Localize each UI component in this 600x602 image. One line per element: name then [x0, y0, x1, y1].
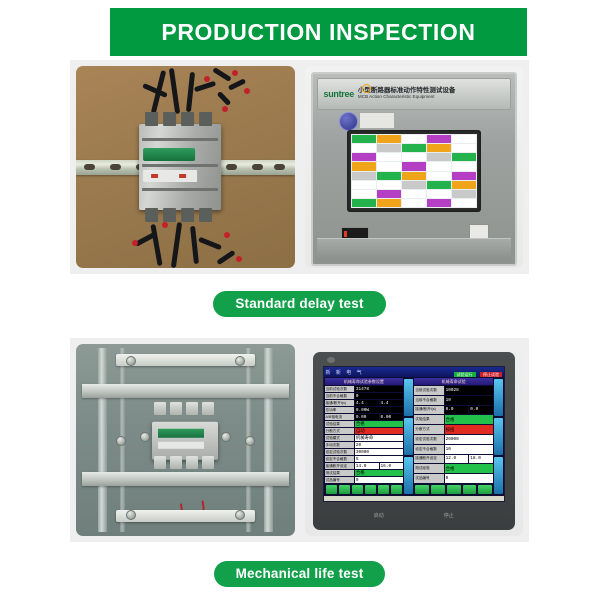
hmi-right-side-buttons[interactable]: [494, 378, 503, 495]
upper-beam: [82, 384, 289, 398]
hmi-data-row: 接通断开设定12.018.0: [414, 455, 493, 464]
label-band-standard-delay-test: Standard delay test: [70, 276, 529, 332]
monitor-bezel: 新 新 电 气 试验运行 停止试验 机械寿命试验参数设置 当前试验次数31478…: [313, 352, 516, 530]
hmi-field-value[interactable]: 0.00: [380, 414, 404, 420]
hmi-field-label: 试验结果: [414, 415, 443, 424]
label-band-mechanical-life-test: Mechanical life test: [70, 546, 529, 602]
hmi-field-label: 试验结果: [325, 421, 354, 427]
hmi-field-label: A/B相电流: [325, 414, 354, 420]
probe-tip: [244, 88, 250, 94]
hmi-field-label: 接通/断开t(s): [325, 400, 354, 406]
circuit-breaker-unit: [139, 124, 221, 210]
hmi-tile: [352, 199, 376, 207]
bezel-label-start: 启动: [374, 512, 384, 519]
hmi-field-label: 设定不合格数: [414, 445, 443, 454]
hmi-field-label: 当前试验次数: [325, 386, 354, 392]
hmi-field-label: 测试结果: [325, 470, 354, 476]
hmi-tile: [402, 153, 426, 161]
hmi-field-label: 试验模式: [325, 435, 354, 441]
hmi-field-value[interactable]: 12.0: [445, 455, 469, 464]
hmi-titlebar: 新 新 电 气 试验运行 停止试验: [324, 367, 505, 377]
hmi-data-row: 接通断开设定14.016.0: [325, 463, 404, 469]
hmi-data-row: 测试经验合格: [414, 464, 493, 473]
bezel-label-stop: 停止: [444, 512, 454, 519]
photo-panel-mechanical-life-test: 新 新 电 气 试验运行 停止试验 机械寿命试验参数设置 当前试验次数31478…: [70, 338, 529, 542]
hmi-field-value[interactable]: 0: [355, 477, 403, 483]
hmi-data-row: 设定不合格数10: [414, 445, 493, 454]
hmi-field-value[interactable]: 合格: [355, 470, 403, 476]
hmi-tile: [352, 181, 376, 189]
probe-tip: [236, 256, 242, 262]
hmi-left-buttons[interactable]: [325, 484, 404, 495]
hmi-right-panel: 机械寿命试验 当前试验次数10028当前不合格数10接通/断开t(s)0.00.…: [414, 378, 493, 495]
hmi-field-value[interactable]: 20000: [445, 435, 493, 444]
hmi-field-value[interactable]: 0.00: [355, 414, 379, 420]
hmi-data-row: 分断方式自动: [325, 428, 404, 434]
hmi-field-value[interactable]: 5: [355, 456, 403, 462]
hmi-field-value[interactable]: 10: [445, 445, 493, 454]
hmi-right-panel-header: 机械寿命试验: [414, 378, 493, 385]
hmi-field-label: 分断方式: [325, 428, 354, 434]
hmi-tile: [377, 190, 401, 198]
suntree-logo: suntree: [324, 89, 354, 99]
photo-panel-standard-delay-test: suntree 小型断路器标准动作特性测试设备 MCB Action Chara…: [70, 60, 529, 274]
probe-lead: [171, 222, 182, 268]
hmi-title: 新 新 电 气: [326, 369, 364, 376]
hmi-field-label: 手动次数: [325, 442, 354, 448]
probe-lead: [194, 81, 216, 93]
hmi-data-row: 当前试验次数10028: [414, 386, 493, 395]
hmi-tile: [452, 135, 476, 143]
hmi-data-row: 试验结果合格: [325, 421, 404, 427]
hmi-field-value[interactable]: 自动: [355, 428, 403, 434]
hmi-field-label: 测试经验: [414, 464, 443, 473]
hmi-field-value[interactable]: 0: [355, 393, 403, 399]
hmi-field-value[interactable]: 0: [445, 474, 493, 483]
hmi-tile: [352, 144, 376, 152]
hmi-tile: [427, 172, 451, 180]
hmi-data-row: 分断方式按扭: [414, 425, 493, 434]
breaker-on-din-rail-photo: [76, 66, 295, 268]
breaker-toggle: [143, 148, 195, 161]
hmi-field-value[interactable]: 18.0: [469, 455, 493, 464]
bolt-icon: [116, 436, 126, 446]
camera-icon: [327, 357, 335, 363]
hmi-screen-bezel: [347, 130, 482, 212]
equipment-title-en: MCB Action Characteristic Equipment: [358, 95, 456, 100]
probe-tip: [222, 106, 228, 112]
hmi-data-row: 接通/断开t(s)0.00.0: [414, 406, 493, 415]
bolt-icon: [126, 510, 136, 520]
hmi-tile: [352, 153, 376, 161]
caption-mechanical-life-test: Mechanical life test: [214, 561, 386, 588]
logo-ring-icon: [362, 84, 371, 93]
hmi-tile: [427, 190, 451, 198]
probe-tip: [162, 222, 168, 228]
hmi-tile: [427, 181, 451, 189]
hmi-left-panel-header: 机械寿命试验参数设置: [325, 378, 404, 385]
hmi-data-row: 试验结果合格: [414, 415, 493, 424]
hmi-field-label: 接通/断开t(s): [414, 406, 443, 415]
bottom-clamp-plate: [116, 510, 255, 522]
hmi-tile: [377, 144, 401, 152]
hmi-field-label: 当前不合格数: [414, 396, 443, 405]
hmi-field-label: 设定不合格数: [325, 456, 354, 462]
hmi-tile: [452, 162, 476, 170]
cabinet-label-plate: [359, 112, 395, 129]
hmi-left-side-buttons[interactable]: [404, 378, 413, 495]
bolt-icon: [235, 356, 245, 366]
hmi-tile: [352, 135, 376, 143]
hmi-field-value[interactable]: 31478: [355, 386, 403, 392]
hmi-data-row: 设定不合格数5: [325, 456, 404, 462]
hmi-body: 机械寿命试验参数设置 当前试验次数31478当前不合格数0接通/断开t(s)4.…: [324, 377, 505, 496]
hmi-tile: [427, 153, 451, 161]
hmi-field-value[interactable]: 30000: [355, 449, 403, 455]
hmi-tile: [452, 172, 476, 180]
hmi-tile: [352, 190, 376, 198]
hmi-tile: [402, 172, 426, 180]
probe-lead: [150, 224, 162, 266]
hmi-field-value[interactable]: 10: [445, 396, 493, 405]
hmi-tile: [377, 181, 401, 189]
hmi-screen: [351, 134, 478, 208]
hmi-data-row: 试品编号0: [325, 477, 404, 483]
top-clamp-plate: [116, 354, 255, 366]
hmi-field-label: 总功率: [325, 407, 354, 413]
hmi-data-row: 当前试验次数31478: [325, 386, 404, 392]
hmi-tile: [377, 199, 401, 207]
hmi-tile: [402, 144, 426, 152]
hmi-field-label: 接通断开设定: [325, 463, 354, 469]
caption-standard-delay-test: Standard delay test: [213, 291, 385, 318]
hmi-tile: [427, 199, 451, 207]
probe-lead: [186, 72, 195, 112]
probe-lead: [212, 67, 232, 82]
hmi-field-value[interactable]: 0.0: [445, 406, 469, 415]
cabinet-brand-header: suntree 小型断路器标准动作特性测试设备 MCB Action Chara…: [317, 78, 512, 110]
page-header-band: PRODUCTION INSPECTION: [110, 8, 527, 56]
hmi-tile: [452, 144, 476, 152]
hmi-tile: [427, 144, 451, 152]
production-inspection-page: PRODUCTION INSPECTION: [0, 0, 600, 600]
breaker-under-test: [152, 422, 218, 460]
hmi-field-label: 试品编号: [325, 477, 354, 483]
hmi-field-value[interactable]: 机械寿命: [355, 435, 403, 441]
hmi-field-value[interactable]: 14.0: [355, 463, 379, 469]
probe-lead: [216, 250, 235, 265]
hmi-field-label: 当前试验次数: [414, 386, 443, 395]
probe-lead: [169, 68, 180, 114]
probe-lead: [217, 91, 232, 106]
hmi-tile: [427, 162, 451, 170]
bolt-icon: [126, 356, 136, 366]
hmi-field-value[interactable]: 合格: [445, 464, 493, 473]
probe-lead: [198, 237, 222, 251]
hmi-data-row: 设定试验次数20000: [414, 435, 493, 444]
hmi-field-label: 接通断开设定: [414, 455, 443, 464]
hmi-tile: [452, 199, 476, 207]
hmi-tile: [377, 162, 401, 170]
probe-tip: [232, 70, 238, 76]
monitor-bezel-labels: 启动 停止: [313, 506, 516, 524]
hmi-field-label: 设定试验次数: [414, 435, 443, 444]
hmi-tile: [377, 135, 401, 143]
hmi-field-value[interactable]: 10028: [445, 386, 493, 395]
hmi-tile: [427, 135, 451, 143]
hmi-data-row: 设定试验次数30000: [325, 449, 404, 455]
cabinet-plinth: [317, 238, 512, 261]
probe-tip: [204, 76, 210, 82]
hmi-tile: [402, 190, 426, 198]
hmi-field-value[interactable]: 20: [355, 442, 403, 448]
hmi-data-row: A/B相电流0.000.00: [325, 414, 404, 420]
photo-row-1: suntree 小型断路器标准动作特性测试设备 MCB Action Chara…: [76, 66, 523, 268]
hmi-field-label: 试品编号: [414, 474, 443, 483]
mcb-action-characteristic-equipment-photo: suntree 小型断路器标准动作特性测试设备 MCB Action Chara…: [305, 66, 524, 268]
hmi-data-row: 总功率0.00W: [325, 407, 404, 413]
test-cabinet: suntree 小型断路器标准动作特性测试设备 MCB Action Chara…: [311, 72, 518, 266]
bolt-icon: [221, 432, 231, 442]
hmi-right-buttons[interactable]: [414, 484, 493, 495]
hmi-data-row: 手动次数20: [325, 442, 404, 448]
hmi-field-value[interactable]: 4.4: [380, 400, 404, 406]
hmi-field-value[interactable]: 0.0: [469, 406, 493, 415]
hmi-tile: [377, 172, 401, 180]
hmi-status-ticker: [324, 496, 505, 501]
probe-tip: [224, 232, 230, 238]
hmi-tile: [452, 190, 476, 198]
probe-lead: [190, 226, 199, 264]
hmi-field-value[interactable]: 合格: [445, 415, 493, 424]
hmi-tile: [452, 181, 476, 189]
hmi-data-row: 接通/断开t(s)4.44.4: [325, 400, 404, 406]
hmi-data-row: 当前不合格数10: [414, 396, 493, 405]
hmi-data-row: 试验模式机械寿命: [325, 435, 404, 441]
hmi-field-value[interactable]: 4.4: [355, 400, 379, 406]
hmi-field-value[interactable]: 按扭: [445, 425, 493, 434]
emergency-knob: [339, 112, 358, 131]
probe-tip: [132, 240, 138, 246]
hmi-data-row: 试品编号0: [414, 474, 493, 483]
hmi-field-label: 设定试验次数: [325, 449, 354, 455]
hmi-data-row: 当前不合格数0: [325, 393, 404, 399]
hmi-tile: [402, 181, 426, 189]
hmi-tile: [452, 153, 476, 161]
mechanical-life-test-fixture-photo: [76, 344, 295, 536]
bolt-icon: [140, 432, 150, 442]
hmi-field-label: 分断方式: [414, 425, 443, 434]
hmi-tile: [402, 199, 426, 207]
mechanical-life-test-hmi-photo: 新 新 电 气 试验运行 停止试验 机械寿命试验参数设置 当前试验次数31478…: [305, 344, 524, 536]
bolt-icon: [235, 510, 245, 520]
hmi-field-value[interactable]: 合格: [355, 421, 403, 427]
hmi-field-value[interactable]: 16.0: [380, 463, 404, 469]
hmi-tile: [377, 153, 401, 161]
hmi-field-label: 当前不合格数: [325, 393, 354, 399]
hmi-left-panel: 机械寿命试验参数设置 当前试验次数31478当前不合格数0接通/断开t(s)4.…: [325, 378, 404, 495]
page-title: PRODUCTION INSPECTION: [161, 19, 475, 46]
hmi-tile: [352, 172, 376, 180]
hmi-display: 新 新 电 气 试验运行 停止试验 机械寿命试验参数设置 当前试验次数31478…: [323, 366, 506, 502]
hmi-data-row: 测试结果合格: [325, 470, 404, 476]
hmi-field-value[interactable]: 0.00W: [355, 407, 403, 413]
hmi-tile: [352, 162, 376, 170]
hmi-tile: [402, 135, 426, 143]
hmi-tile: [402, 162, 426, 170]
bolt-icon: [245, 436, 255, 446]
photo-row-2: 新 新 电 气 试验运行 停止试验 机械寿命试验参数设置 当前试验次数31478…: [76, 344, 523, 536]
lower-beam: [82, 472, 289, 486]
